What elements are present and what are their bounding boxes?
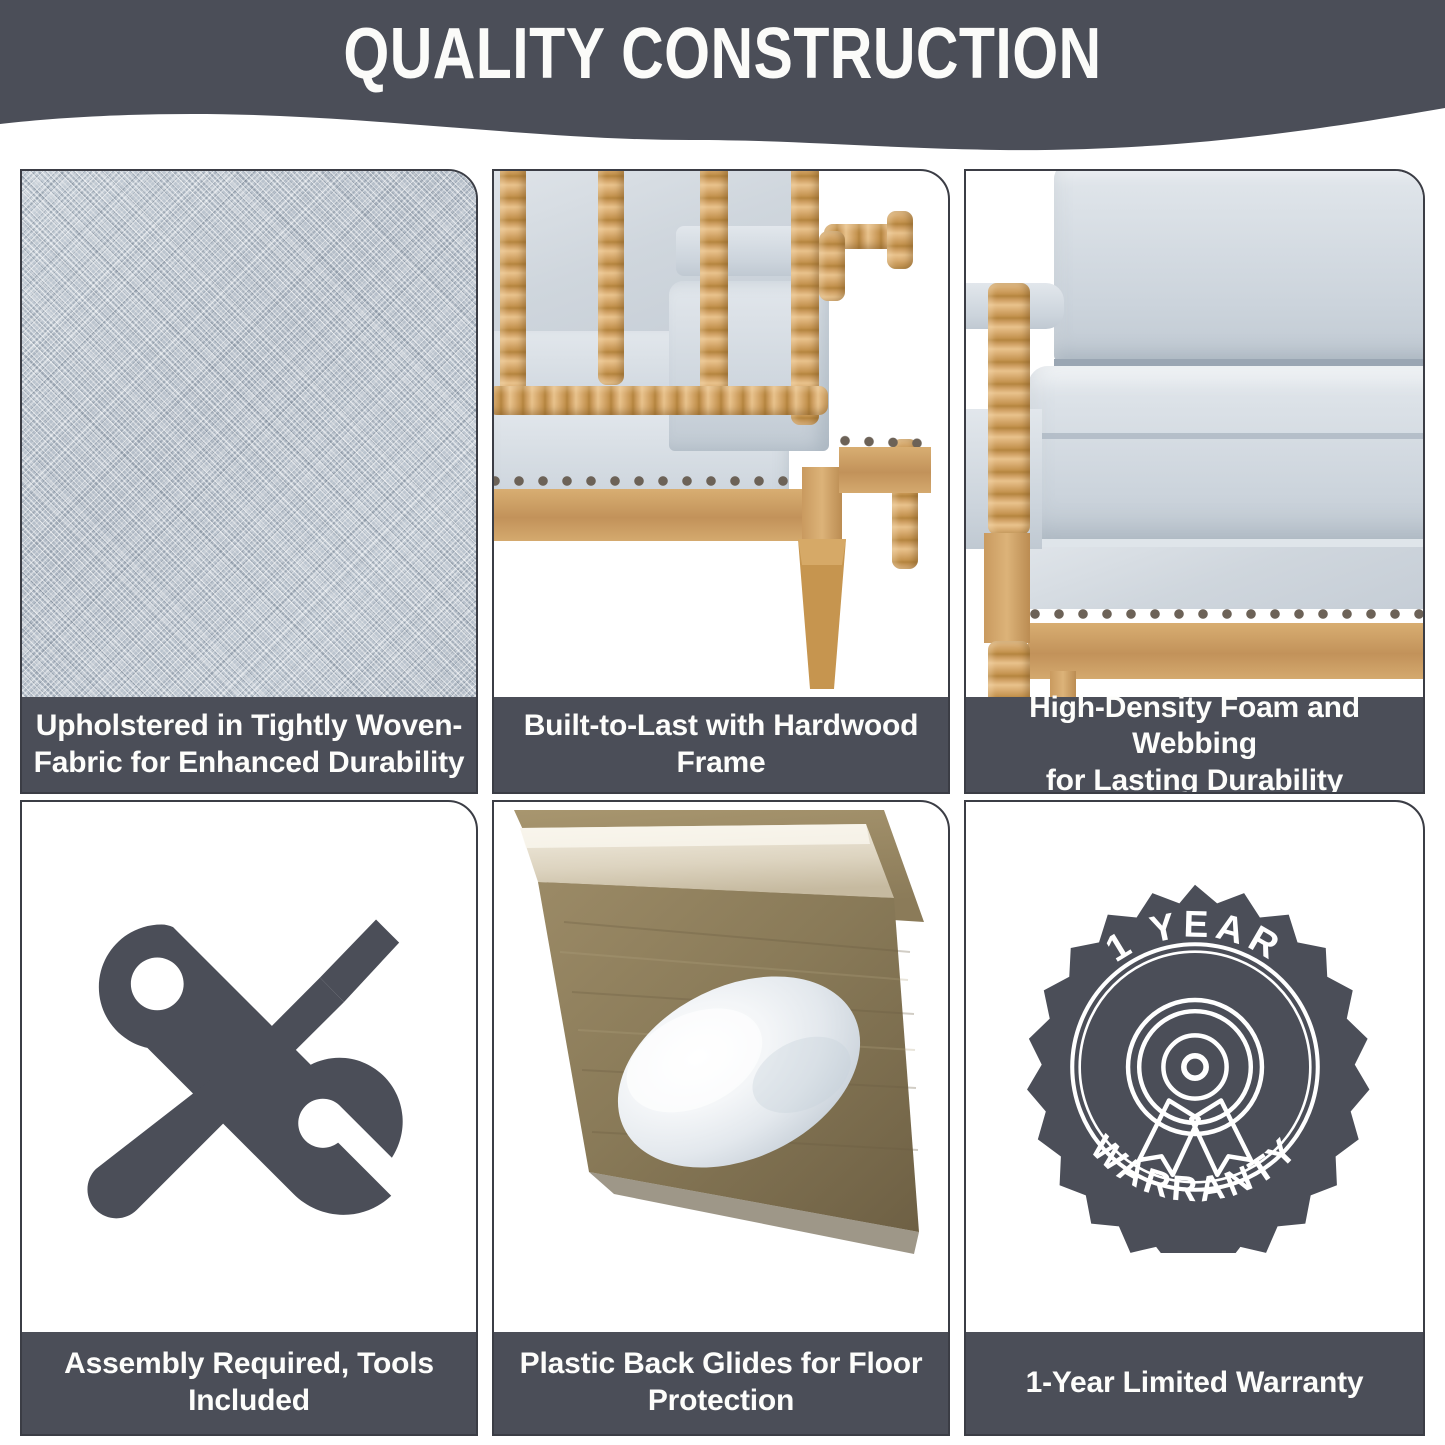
panel-hardwood-frame: Built-to-Last with Hardwood Frame bbox=[492, 169, 950, 794]
back-cushion bbox=[1054, 171, 1423, 363]
caption-line-2: Frame bbox=[504, 745, 938, 782]
panel-glides: Plastic Back Glides for Floor Protection bbox=[492, 800, 950, 1436]
spindle-rail-horizontal bbox=[494, 386, 828, 415]
wood-corner-post bbox=[802, 467, 842, 545]
caption-line-1: Assembly Required, Tools bbox=[32, 1346, 466, 1383]
panel-glides-border: Plastic Back Glides for Floor Protection bbox=[492, 800, 950, 1436]
caption-line-2: Protection bbox=[504, 1383, 938, 1420]
caption-line-1: High-Density Foam and Webbing bbox=[976, 690, 1413, 763]
page-title: QUALITY CONSTRUCTION bbox=[130, 14, 1315, 94]
panel-fabric-frame: Upholstered in Tightly Woven- Fabric for… bbox=[20, 169, 478, 794]
spindle-back-3 bbox=[700, 171, 728, 399]
spindle-arm-post-2 bbox=[887, 211, 913, 269]
panel-warranty-border: 1 YEAR WARRANTY 1-Year Limited Warranty bbox=[964, 800, 1425, 1436]
seat-deck-panel bbox=[1028, 547, 1423, 609]
wood-side-rail bbox=[839, 447, 931, 493]
panel-fabric-caption: Upholstered in Tightly Woven- Fabric for… bbox=[22, 697, 476, 792]
caption-line-2: Fabric for Enhanced Durability bbox=[32, 745, 466, 782]
spindle-back-2 bbox=[598, 171, 624, 385]
panel-foam-webbing-border: High-Density Foam and Webbing for Lastin… bbox=[964, 169, 1425, 794]
wood-front-rail bbox=[494, 489, 808, 541]
panel-warranty-caption: 1-Year Limited Warranty bbox=[966, 1332, 1423, 1434]
warranty-seal-icon: 1 YEAR WARRANTY bbox=[1009, 881, 1381, 1253]
panel-warranty: 1 YEAR WARRANTY 1-Year Limited Warranty bbox=[964, 800, 1425, 1436]
wood-leg-with-glide bbox=[494, 802, 948, 1336]
wood-corner-post bbox=[984, 533, 1030, 643]
panel-glides-caption: Plastic Back Glides for Floor Protection bbox=[494, 1332, 948, 1434]
feature-grid: Upholstered in Tightly Woven- Fabric for… bbox=[0, 160, 1445, 1445]
wood-front-leg bbox=[794, 539, 864, 689]
panel-assembly: Assembly Required, Tools Included bbox=[20, 800, 478, 1436]
nailhead-trim bbox=[1028, 603, 1423, 625]
panel-foam-webbing-caption: High-Density Foam and Webbing for Lastin… bbox=[966, 697, 1423, 792]
spindle-arm-post bbox=[988, 283, 1030, 535]
panel-assembly-border: Assembly Required, Tools Included bbox=[20, 800, 478, 1436]
caption-line-1: Built-to-Last with Hardwood bbox=[504, 708, 938, 745]
seat-cushion bbox=[1028, 366, 1423, 546]
caption-line-1: Plastic Back Glides for Floor bbox=[504, 1346, 938, 1383]
panel-fabric: Upholstered in Tightly Woven- Fabric for… bbox=[20, 169, 478, 794]
nailhead-trim-front bbox=[494, 471, 806, 491]
seat-cushion-seam bbox=[1028, 433, 1423, 439]
caption-line-1: 1-Year Limited Warranty bbox=[976, 1365, 1413, 1402]
infographic-root: QUALITY CONSTRUCTION Upholstered in Tigh… bbox=[0, 0, 1445, 1445]
caption-line-2: Included bbox=[32, 1383, 466, 1420]
spindle-back-1 bbox=[500, 171, 526, 395]
caption-line-1: Upholstered in Tightly Woven- bbox=[32, 708, 466, 745]
panel-hardwood-frame-caption: Built-to-Last with Hardwood Frame bbox=[494, 697, 948, 792]
caption-line-2: for Lasting Durability bbox=[976, 763, 1413, 794]
wood-base-rail bbox=[1028, 623, 1423, 679]
seat-cushion-welt bbox=[1028, 539, 1423, 547]
spindle-arm-post bbox=[819, 231, 845, 301]
back-cushion-piping bbox=[1054, 359, 1423, 366]
wrench-screwdriver-icon bbox=[84, 903, 414, 1233]
header-banner: QUALITY CONSTRUCTION bbox=[0, 0, 1445, 160]
panel-hardwood-frame-border: Built-to-Last with Hardwood Frame bbox=[492, 169, 950, 794]
panel-foam-webbing: High-Density Foam and Webbing for Lastin… bbox=[964, 169, 1425, 794]
panel-assembly-caption: Assembly Required, Tools Included bbox=[22, 1332, 476, 1434]
